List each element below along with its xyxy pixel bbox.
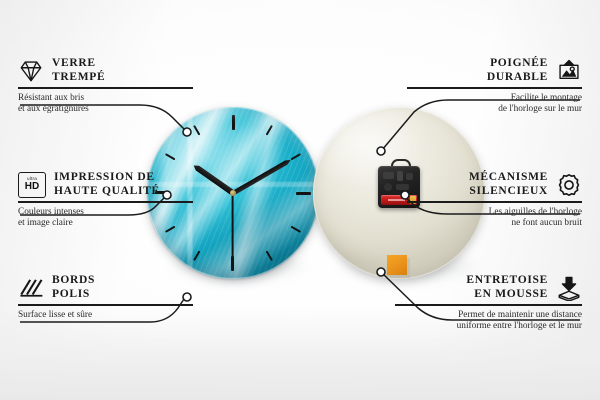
feature-header: ultra HD IMPRESSION DE HAUTE QUALITÉ	[18, 171, 193, 198]
mechanism-detail	[383, 172, 394, 179]
feature-divider	[18, 304, 193, 306]
feature-description: Facilite le montage de l'horloge sur le …	[407, 93, 582, 116]
feature-header: MÉCANISME SILENCIEUX	[407, 171, 582, 198]
feature-divider	[18, 87, 193, 89]
foam-spacer-icon	[556, 275, 582, 301]
polished-edges-icon	[18, 275, 44, 301]
ultra-hd-icon-main: HD	[25, 182, 39, 192]
battery-stripe	[388, 199, 405, 201]
feature-mecanisme-silencieux[interactable]: MÉCANISME SILENCIEUX Les aiguilles de l'…	[407, 171, 582, 230]
foam-spacer	[387, 255, 407, 275]
feature-description: Couleurs intenses et image claire	[18, 207, 193, 230]
mechanism-detail	[384, 183, 392, 191]
diamond-icon	[18, 58, 44, 84]
feature-title: BORDS POLIS	[52, 274, 95, 301]
feature-title: MÉCANISME SILENCIEUX	[469, 171, 548, 198]
feature-entretoise-en-mousse[interactable]: ENTRETOISE EN MOUSSE Permet de maintenir…	[395, 274, 582, 333]
feature-divider	[18, 201, 193, 203]
feature-header: POIGNÉE DURABLE	[407, 57, 582, 84]
gear-icon	[556, 172, 582, 198]
wall-frame-icon	[556, 58, 582, 84]
mechanism-detail	[397, 171, 403, 181]
feature-description: Les aiguilles de l'horloge ne font aucun…	[407, 207, 582, 230]
feature-verre-trempe[interactable]: VERRE TREMPÉ Résistant aux bris et aux é…	[18, 57, 193, 116]
ultra-hd-icon: ultra HD	[18, 172, 46, 198]
feature-description: Surface lisse et sûre	[18, 310, 193, 321]
feature-header: BORDS POLIS	[18, 274, 193, 301]
feature-header: VERRE TREMPÉ	[18, 57, 193, 84]
feature-description: Résistant aux bris et aux égratignures	[18, 93, 193, 116]
feature-description: Permet de maintenir une distance uniform…	[395, 310, 582, 333]
feature-poignee-durable[interactable]: POIGNÉE DURABLE Facilite le montage de l…	[407, 57, 582, 116]
feature-bords-polis[interactable]: BORDS POLIS Surface lisse et sûre	[18, 274, 193, 321]
feature-divider	[407, 87, 582, 89]
feature-impression-haute-qualite[interactable]: ultra HD IMPRESSION DE HAUTE QUALITÉ Cou…	[18, 171, 193, 230]
infographic-canvas: VERRE TREMPÉ Résistant aux bris et aux é…	[0, 0, 600, 400]
feature-title: VERRE TREMPÉ	[52, 57, 105, 84]
feature-divider	[407, 201, 582, 203]
feature-divider	[395, 304, 582, 306]
feature-title: ENTRETOISE EN MOUSSE	[466, 274, 548, 301]
feature-title: IMPRESSION DE HAUTE QUALITÉ	[54, 171, 160, 198]
feature-header: ENTRETOISE EN MOUSSE	[395, 274, 582, 301]
feature-title: POIGNÉE DURABLE	[487, 57, 548, 84]
